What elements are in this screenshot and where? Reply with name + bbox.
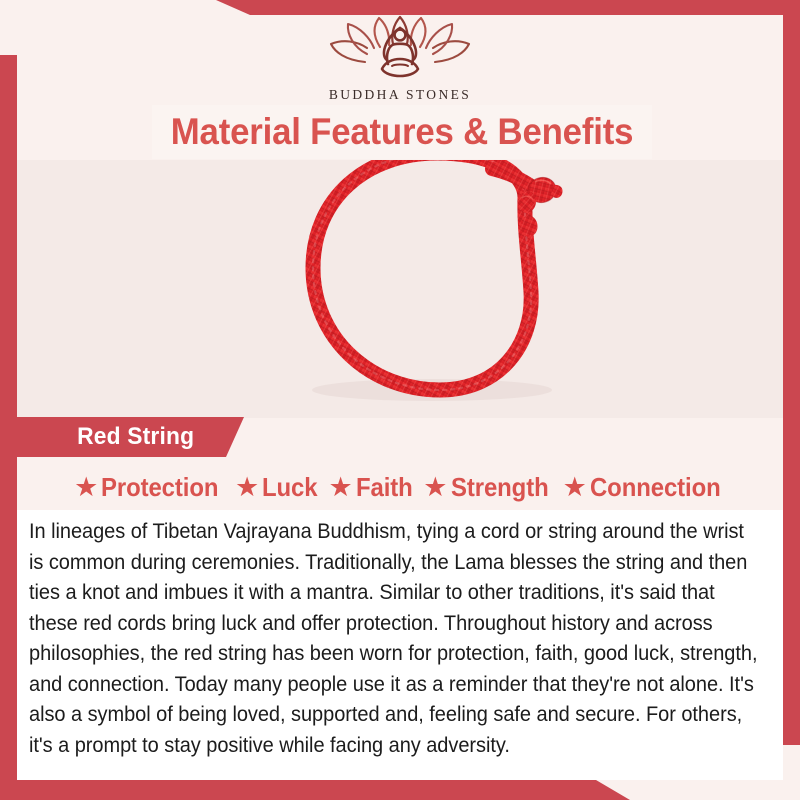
lotus-meditation-icon xyxy=(325,14,475,85)
benefit-item: ★ Faith xyxy=(322,472,417,503)
benefit-item: ★ Connection xyxy=(557,472,732,503)
frame-left-bar xyxy=(0,55,17,800)
benefit-label: Connection xyxy=(590,472,721,503)
material-label-band: Red String xyxy=(17,417,244,457)
material-label: Red String xyxy=(77,423,194,451)
infographic-canvas: BUDDHA STONES Material Features & Benefi… xyxy=(0,0,800,800)
brand-name: BUDDHA STONES xyxy=(329,87,471,103)
star-icon: ★ xyxy=(328,474,352,501)
benefits-list: ★ Protection ★ Luck ★ Faith ★ Strength ★… xyxy=(17,466,783,508)
benefit-label: Strength xyxy=(451,472,549,503)
red-string-bracelet-image xyxy=(272,160,602,418)
frame-top-bar xyxy=(0,0,800,15)
benefit-item: ★ Strength xyxy=(417,472,556,503)
description-panel: In lineages of Tibetan Vajrayana Buddhis… xyxy=(17,510,783,780)
star-icon: ★ xyxy=(423,474,447,501)
star-icon: ★ xyxy=(74,474,98,501)
brand-logo: BUDDHA STONES xyxy=(0,14,800,104)
title-banner: Material Features & Benefits xyxy=(152,105,652,159)
description-text: In lineages of Tibetan Vajrayana Buddhis… xyxy=(29,516,761,760)
page-title: Material Features & Benefits xyxy=(171,111,633,153)
frame-right-bar xyxy=(783,0,800,800)
star-icon: ★ xyxy=(235,474,259,501)
product-image-panel xyxy=(17,160,783,418)
benefit-label: Protection xyxy=(101,472,218,503)
benefit-label: Faith xyxy=(356,472,413,503)
benefit-label: Luck xyxy=(262,472,317,503)
benefit-item: ★ Protection xyxy=(68,472,229,503)
star-icon: ★ xyxy=(563,474,587,501)
frame-bottom-bar xyxy=(0,780,800,800)
benefit-item: ★ Luck xyxy=(229,472,323,503)
